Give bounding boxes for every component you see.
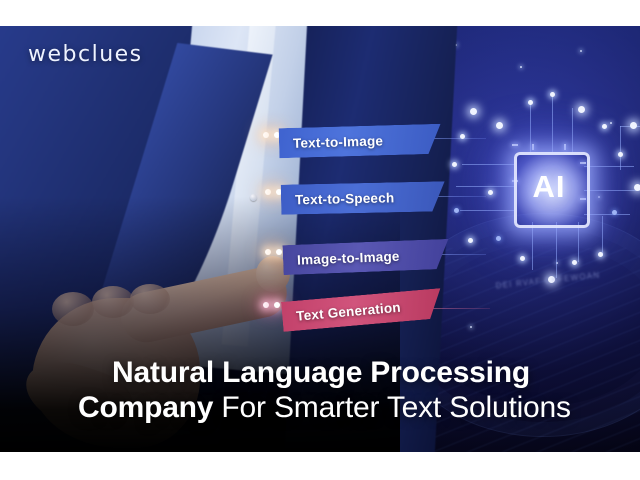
webclues-logo[interactable]: webclues <box>28 42 143 67</box>
circuit-trace <box>572 108 573 152</box>
circuit-trace <box>602 216 603 256</box>
headline-emphasis: Company <box>78 391 213 424</box>
circuit-trace <box>578 222 579 262</box>
circuit-node <box>470 108 477 115</box>
circuit-node <box>618 152 623 157</box>
circuit-node <box>496 122 503 129</box>
circuit-trace <box>530 104 531 152</box>
circuit-trace <box>556 222 557 278</box>
headline-line-2: Company For Smarter Text Solutions <box>78 391 628 426</box>
circuit-trace <box>584 214 630 215</box>
circuit-node <box>602 124 607 129</box>
connector-dots-4 <box>262 300 284 310</box>
ai-chip-text: AI <box>514 152 584 222</box>
feature-chip-text-to-image[interactable]: Text-to-Image <box>279 124 442 159</box>
feature-chip-label: Image-to-Image <box>297 248 400 267</box>
circuit-trace <box>532 222 533 270</box>
feature-chip-label: Text Generation <box>296 299 402 323</box>
feature-chip-label: Text-to-Speech <box>295 190 395 207</box>
circuit-trace <box>462 164 514 165</box>
circuit-node <box>496 236 501 241</box>
chip-pin <box>532 144 534 150</box>
circuit-node <box>630 122 637 129</box>
circuit-node <box>578 106 585 113</box>
circuit-trace <box>584 166 634 167</box>
circuit-node <box>612 210 617 215</box>
poster-frame: AI DEI RVAF CKFEWOAN Text <box>0 0 640 480</box>
circuit-node <box>598 252 603 257</box>
circuit-node <box>452 162 457 167</box>
circuit-node <box>528 100 533 105</box>
circuit-trace <box>584 190 640 191</box>
chip-pin <box>564 144 566 150</box>
circuit-node <box>634 184 640 191</box>
circuit-node <box>468 238 473 243</box>
circuit-trace <box>620 126 621 170</box>
headline-line-1: Natural Language Processing <box>112 356 628 391</box>
circuit-node <box>550 92 555 97</box>
circuit-node <box>520 256 525 261</box>
ai-chip-graphic: AI DEI RVAF CKFEWOAN <box>452 86 640 321</box>
hero-headline: Natural Language Processing Company For … <box>112 356 628 426</box>
feature-chip-text-to-speech[interactable]: Text-to-Speech <box>281 181 446 214</box>
circuit-trace <box>460 210 514 211</box>
circuit-trace <box>552 96 553 152</box>
hero-banner: AI DEI RVAF CKFEWOAN Text <box>0 26 640 452</box>
circuit-trace <box>456 186 514 187</box>
circuit-node <box>488 190 493 195</box>
circuit-node <box>454 208 459 213</box>
circuit-node <box>460 134 465 139</box>
feature-chip-label: Text-to-Image <box>293 133 383 151</box>
chip-pin <box>512 144 518 146</box>
headline-subtext: For Smarter Text Solutions <box>213 391 571 424</box>
circuit-node <box>572 260 577 265</box>
feature-chip-image-to-image[interactable]: Image-to-Image <box>282 239 449 275</box>
